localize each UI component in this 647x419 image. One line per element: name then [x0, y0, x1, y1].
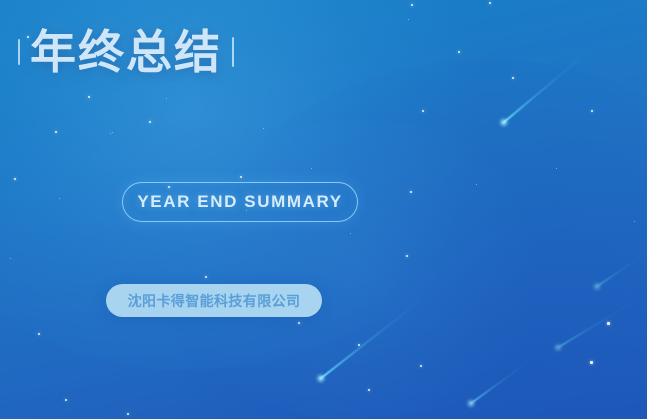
star-dot	[358, 344, 360, 346]
meteor-right-edge	[596, 254, 645, 288]
star-dot	[59, 198, 60, 199]
star-dot	[512, 77, 514, 79]
star-dot	[166, 98, 167, 99]
star-dot	[127, 413, 129, 415]
company-name-badge[interactable]: 沈阳卡得智能科技有限公司	[106, 284, 322, 317]
star-dot	[112, 132, 113, 133]
meteor-bottom-right	[557, 298, 640, 349]
star-dot	[458, 51, 460, 53]
star-dot	[489, 2, 491, 4]
star-dot	[311, 168, 312, 169]
star-dot	[476, 184, 477, 185]
star-dot	[10, 258, 11, 259]
star-dot	[149, 121, 151, 123]
meteor-mid-right	[470, 361, 529, 405]
star-dot	[410, 191, 412, 193]
company-name-label: 沈阳卡得智能科技有限公司	[128, 291, 301, 311]
star-dot	[263, 128, 264, 129]
star-dot	[205, 276, 207, 278]
tick-mark-left-icon	[18, 39, 20, 65]
light-bloom-center	[150, 120, 570, 419]
star-dot	[110, 133, 111, 134]
star-dot	[408, 19, 409, 20]
star-dot	[556, 168, 557, 169]
year-end-summary-label: YEAR END SUMMARY	[137, 192, 342, 212]
star-dot	[406, 255, 408, 257]
star-dot	[65, 399, 67, 401]
meteor-top-right	[502, 53, 586, 124]
star-dot	[240, 176, 242, 178]
star-dot	[420, 365, 422, 367]
star-dot	[350, 233, 351, 234]
tick-mark-right-icon	[232, 37, 234, 67]
star-dot	[55, 131, 57, 133]
star-dot	[411, 4, 413, 6]
star-dot	[88, 96, 90, 98]
star-dot	[590, 361, 593, 364]
star-dot	[38, 333, 40, 335]
star-dot	[422, 110, 424, 112]
year-end-summary-poster: 年终总结 YEAR END SUMMARY 沈阳卡得智能科技有限公司	[0, 0, 647, 419]
year-end-summary-badge[interactable]: YEAR END SUMMARY	[122, 182, 358, 222]
light-bloom-lower-right	[167, 59, 647, 419]
star-dot	[591, 110, 593, 112]
star-dot	[298, 322, 300, 324]
meteor-bottom-center	[319, 298, 423, 380]
star-dot	[607, 322, 610, 325]
poster-title-group: 年终总结	[18, 29, 234, 75]
star-dot	[14, 178, 16, 180]
page-title: 年终总结	[30, 29, 222, 75]
star-dot	[634, 221, 635, 222]
star-dot	[368, 389, 370, 391]
